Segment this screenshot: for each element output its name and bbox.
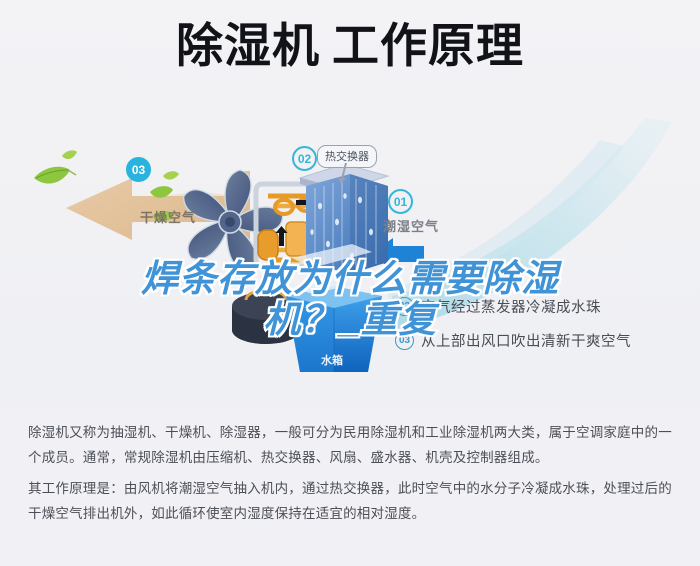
label-dry-air: 干燥空气 [140,207,196,226]
callout-heat-exchanger: 热交换器 [317,145,377,168]
diagram-badge-01: 01 [388,189,413,214]
label-water-tank: 水箱 [321,352,343,368]
page-root: 除湿机工作原理 [0,0,700,566]
overlay-headline-line-2: 机？_重复 [0,299,700,340]
body-paragraph-2: 其工作原理是：由风机将潮湿空气抽入机内，通过热交换器，此时空气中的水分子冷凝成水… [28,476,676,526]
overlay-headline-line-1: 焊条存放为什么需要除湿 [0,258,700,299]
dehumidifier-infographic: 除湿机工作原理 [0,0,700,406]
page-title: 除湿机工作原理 [0,22,700,69]
diagram-badge-02: 02 [292,146,317,171]
body-paragraph-1: 除湿机又称为抽湿机、干燥机、除湿器，一般可分为民用除湿机和工业除湿机两大类，属于… [28,420,676,470]
label-humid-air: 潮湿空气 [383,216,439,235]
article-body: 除湿机又称为抽湿机、干燥机、除湿器，一般可分为民用除湿机和工业除湿机两大类，属于… [28,420,676,532]
overlay-headline: 焊条存放为什么需要除湿 机？_重复 [0,258,700,341]
title-segment-two: 工作原理 [332,19,524,72]
diagram-badge-03: 03 [126,157,151,182]
title-segment-one: 除湿机 [176,19,320,72]
